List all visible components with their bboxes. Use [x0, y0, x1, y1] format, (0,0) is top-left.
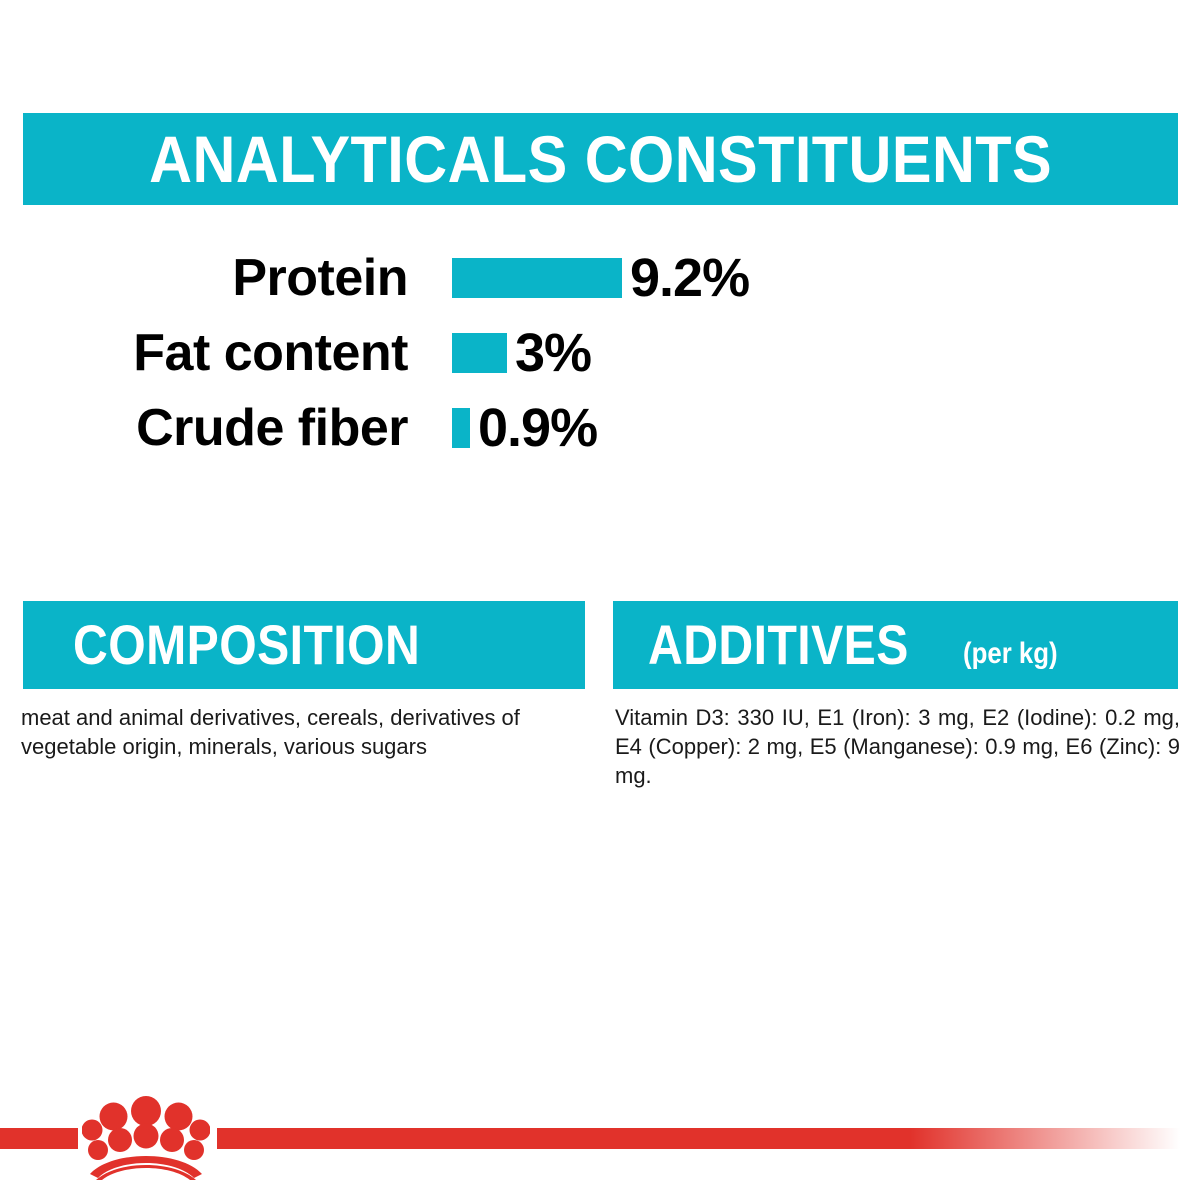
nutrition-value: 9.2%	[630, 251, 749, 305]
footer-rule-left	[0, 1128, 78, 1149]
analyticals-heading: ANALYTICALS CONSTITUENTS	[149, 126, 1052, 192]
nutrition-label: Fat content	[0, 327, 408, 379]
nutrition-bar	[452, 333, 507, 373]
nutrition-value: 0.9%	[478, 401, 597, 455]
nutrition-label: Protein	[0, 252, 408, 304]
additives-heading-suffix: (per kg)	[963, 639, 1058, 669]
nutrition-row: Protein 9.2%	[0, 240, 1200, 315]
nutrition-info-panel: ANALYTICALS CONSTITUENTS Protein 9.2% Fa…	[0, 0, 1200, 1200]
additives-header-band: ADDITIVES (per kg)	[613, 601, 1178, 689]
composition-text: meat and animal derivatives, cereals, de…	[21, 703, 591, 761]
nutrition-bar	[452, 408, 470, 448]
nutrition-bar-group: 9.2%	[452, 251, 749, 305]
royal-canin-crown-logo-icon	[82, 1094, 210, 1180]
additives-text: Vitamin D3: 330 IU, E1 (Iron): 3 mg, E2 …	[615, 703, 1180, 790]
nutrition-row: Crude fiber 0.9%	[0, 390, 1200, 465]
footer-rule-right	[217, 1128, 1180, 1149]
nutrition-bar	[452, 258, 622, 298]
analyticals-bar-chart: Protein 9.2% Fat content 3% Crude fiber …	[0, 240, 1200, 465]
nutrition-bar-group: 0.9%	[452, 401, 597, 455]
nutrition-value: 3%	[515, 326, 591, 380]
nutrition-label: Crude fiber	[0, 402, 408, 454]
footer-brand-bar	[0, 1080, 1200, 1200]
nutrition-bar-group: 3%	[452, 326, 591, 380]
analyticals-header-band: ANALYTICALS CONSTITUENTS	[23, 113, 1178, 205]
composition-heading: COMPOSITION	[73, 617, 420, 673]
composition-header-band: COMPOSITION	[23, 601, 585, 689]
additives-heading: ADDITIVES	[648, 617, 909, 673]
nutrition-row: Fat content 3%	[0, 315, 1200, 390]
